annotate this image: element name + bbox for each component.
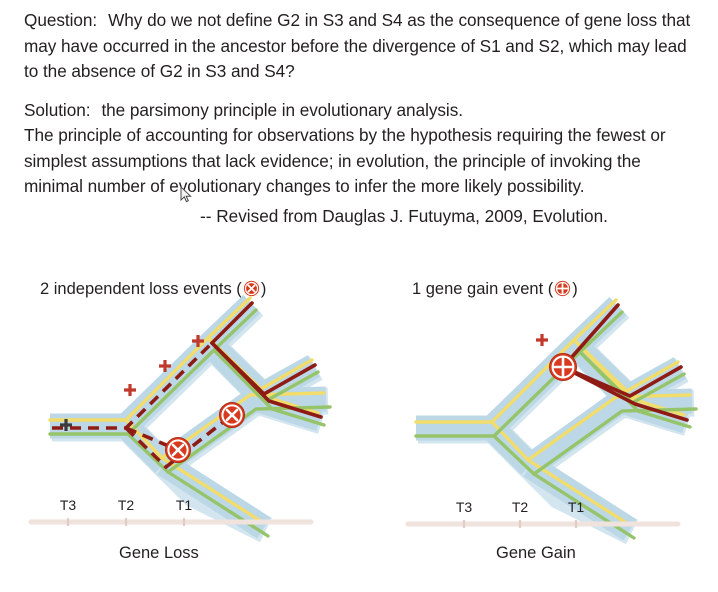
gain-event xyxy=(550,354,577,381)
panel-gene-gain: 1 gene gain event ( ) xyxy=(396,278,714,588)
time-axis-gain: T3 T2 T1 xyxy=(408,499,678,528)
slide-page: Question:Why do we not define G2 in S3 a… xyxy=(0,0,718,592)
loss-event-lower xyxy=(166,438,191,463)
question-paragraph: Question:Why do we not define G2 in S3 a… xyxy=(24,8,700,85)
axis-tick-t3: T3 xyxy=(60,497,77,513)
gene-gain-tree: T3 T2 T1 xyxy=(396,278,714,588)
gene-loss-caption: Gene Loss xyxy=(119,544,199,563)
axis-tick-t1: T1 xyxy=(176,497,193,513)
gene-loss-tree: T3 T2 T1 xyxy=(16,278,366,588)
loss-event-upper xyxy=(220,403,245,428)
plus-gain xyxy=(536,334,548,346)
solution-body: The principle of accounting for observat… xyxy=(24,123,700,200)
axis-tick-t3: T3 xyxy=(456,499,473,515)
gene-gain-caption: Gene Gain xyxy=(496,544,576,563)
axis-tick-t2: T2 xyxy=(118,497,135,513)
time-axis-loss: T3 T2 T1 xyxy=(31,497,311,526)
solution-headline-paragraph: Solution:the parsimony principle in evol… xyxy=(24,98,700,124)
solution-headline: the parsimony principle in evolutionary … xyxy=(101,100,463,120)
axis-tick-t2: T2 xyxy=(512,499,529,515)
question-label: Question: xyxy=(24,10,97,30)
panel-gene-loss: 2 independent loss events ( ) xyxy=(16,278,366,588)
question-text: Why do we not define G2 in S3 and S4 as … xyxy=(24,10,690,81)
plus-branch-1 xyxy=(124,384,136,396)
axis-tick-t1: T1 xyxy=(568,499,585,515)
attribution: -- Revised from Dauglas J. Futuyma, 2009… xyxy=(24,204,700,230)
text-block: Question:Why do we not define G2 in S3 a… xyxy=(24,8,700,229)
solution-label: Solution: xyxy=(24,100,90,120)
